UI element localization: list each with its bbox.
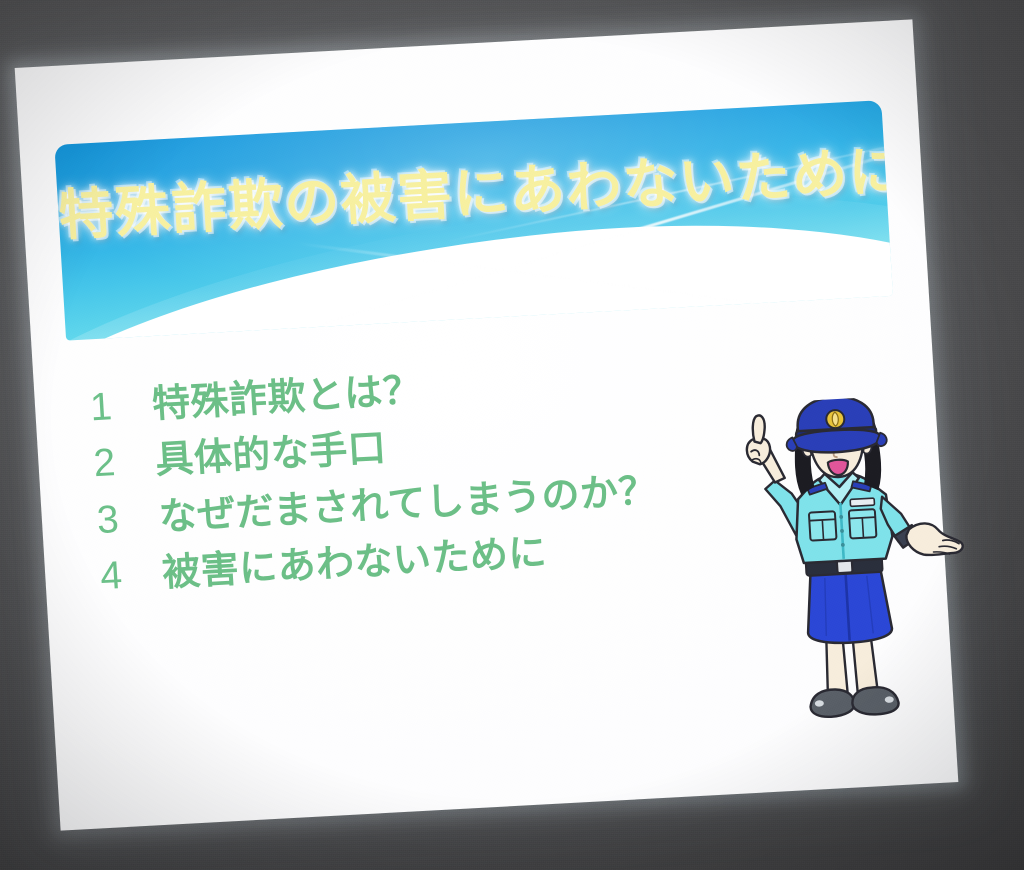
list-item-number: 4	[99, 548, 164, 603]
slide-title-banner: 特殊詐欺の被害にあわないために	[54, 100, 893, 340]
officer-name-badge	[850, 498, 874, 506]
slide-surface: 特殊詐欺の被害にあわないために 1 特殊詐欺とは？ 2 具体的な手口 3 なぜだ…	[15, 19, 959, 830]
police-officer-illustration	[708, 392, 978, 750]
officer-open-palm	[906, 521, 964, 556]
list-item-number: 1	[89, 379, 154, 434]
agenda-list: 1 特殊詐欺とは？ 2 具体的な手口 3 なぜだまされてしまうのか？ 4 被害に…	[89, 348, 742, 608]
list-item-label: 具体的な手口	[154, 423, 388, 486]
list-item-number: 3	[96, 492, 161, 547]
list-item-number: 2	[92, 435, 157, 490]
projection-screen: 特殊詐欺の被害にあわないために 1 特殊詐欺とは？ 2 具体的な手口 3 なぜだ…	[15, 19, 959, 830]
officer-index-finger	[752, 415, 766, 443]
list-item-label: 特殊詐欺とは？	[151, 365, 423, 430]
